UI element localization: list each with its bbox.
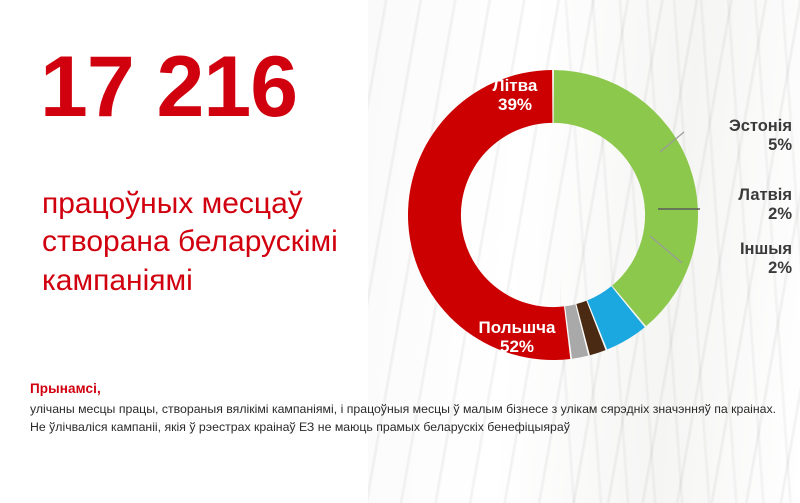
slice-label-inshyya: Іншыя 2% (640, 240, 792, 279)
footnote-line-2: Не ўлічваліся кампаніі, якія ў рэестрах … (30, 418, 780, 436)
headline-number: 17 216 (40, 44, 297, 130)
slice-label-estonia: Эстонія 5% (640, 117, 792, 156)
footnote-line-1: улічаны месцы працы, створаныя вялікімі … (30, 400, 780, 418)
slice-label-inshyya-name: Іншыя (640, 240, 792, 259)
slice-label-latvia-value: 2% (640, 205, 792, 224)
slice-label-estonia-name: Эстонія (640, 117, 792, 136)
footnote: Прынамсі, улічаны месцы працы, створаныя… (30, 381, 780, 437)
slice-label-estonia-value: 5% (640, 136, 792, 155)
slice-label-latvia: Латвія 2% (640, 186, 792, 225)
infographic-page: 17 216 працоўных месцаў створана беларус… (0, 0, 800, 503)
slice-label-latvia-name: Латвія (640, 186, 792, 205)
footnote-title: Прынамсі, (30, 381, 780, 396)
slice-label-inshyya-value: 2% (640, 259, 792, 278)
headline-subtitle: працоўных месцаў створана беларускімі ка… (42, 185, 362, 300)
donut-slice-польшча (408, 70, 570, 360)
